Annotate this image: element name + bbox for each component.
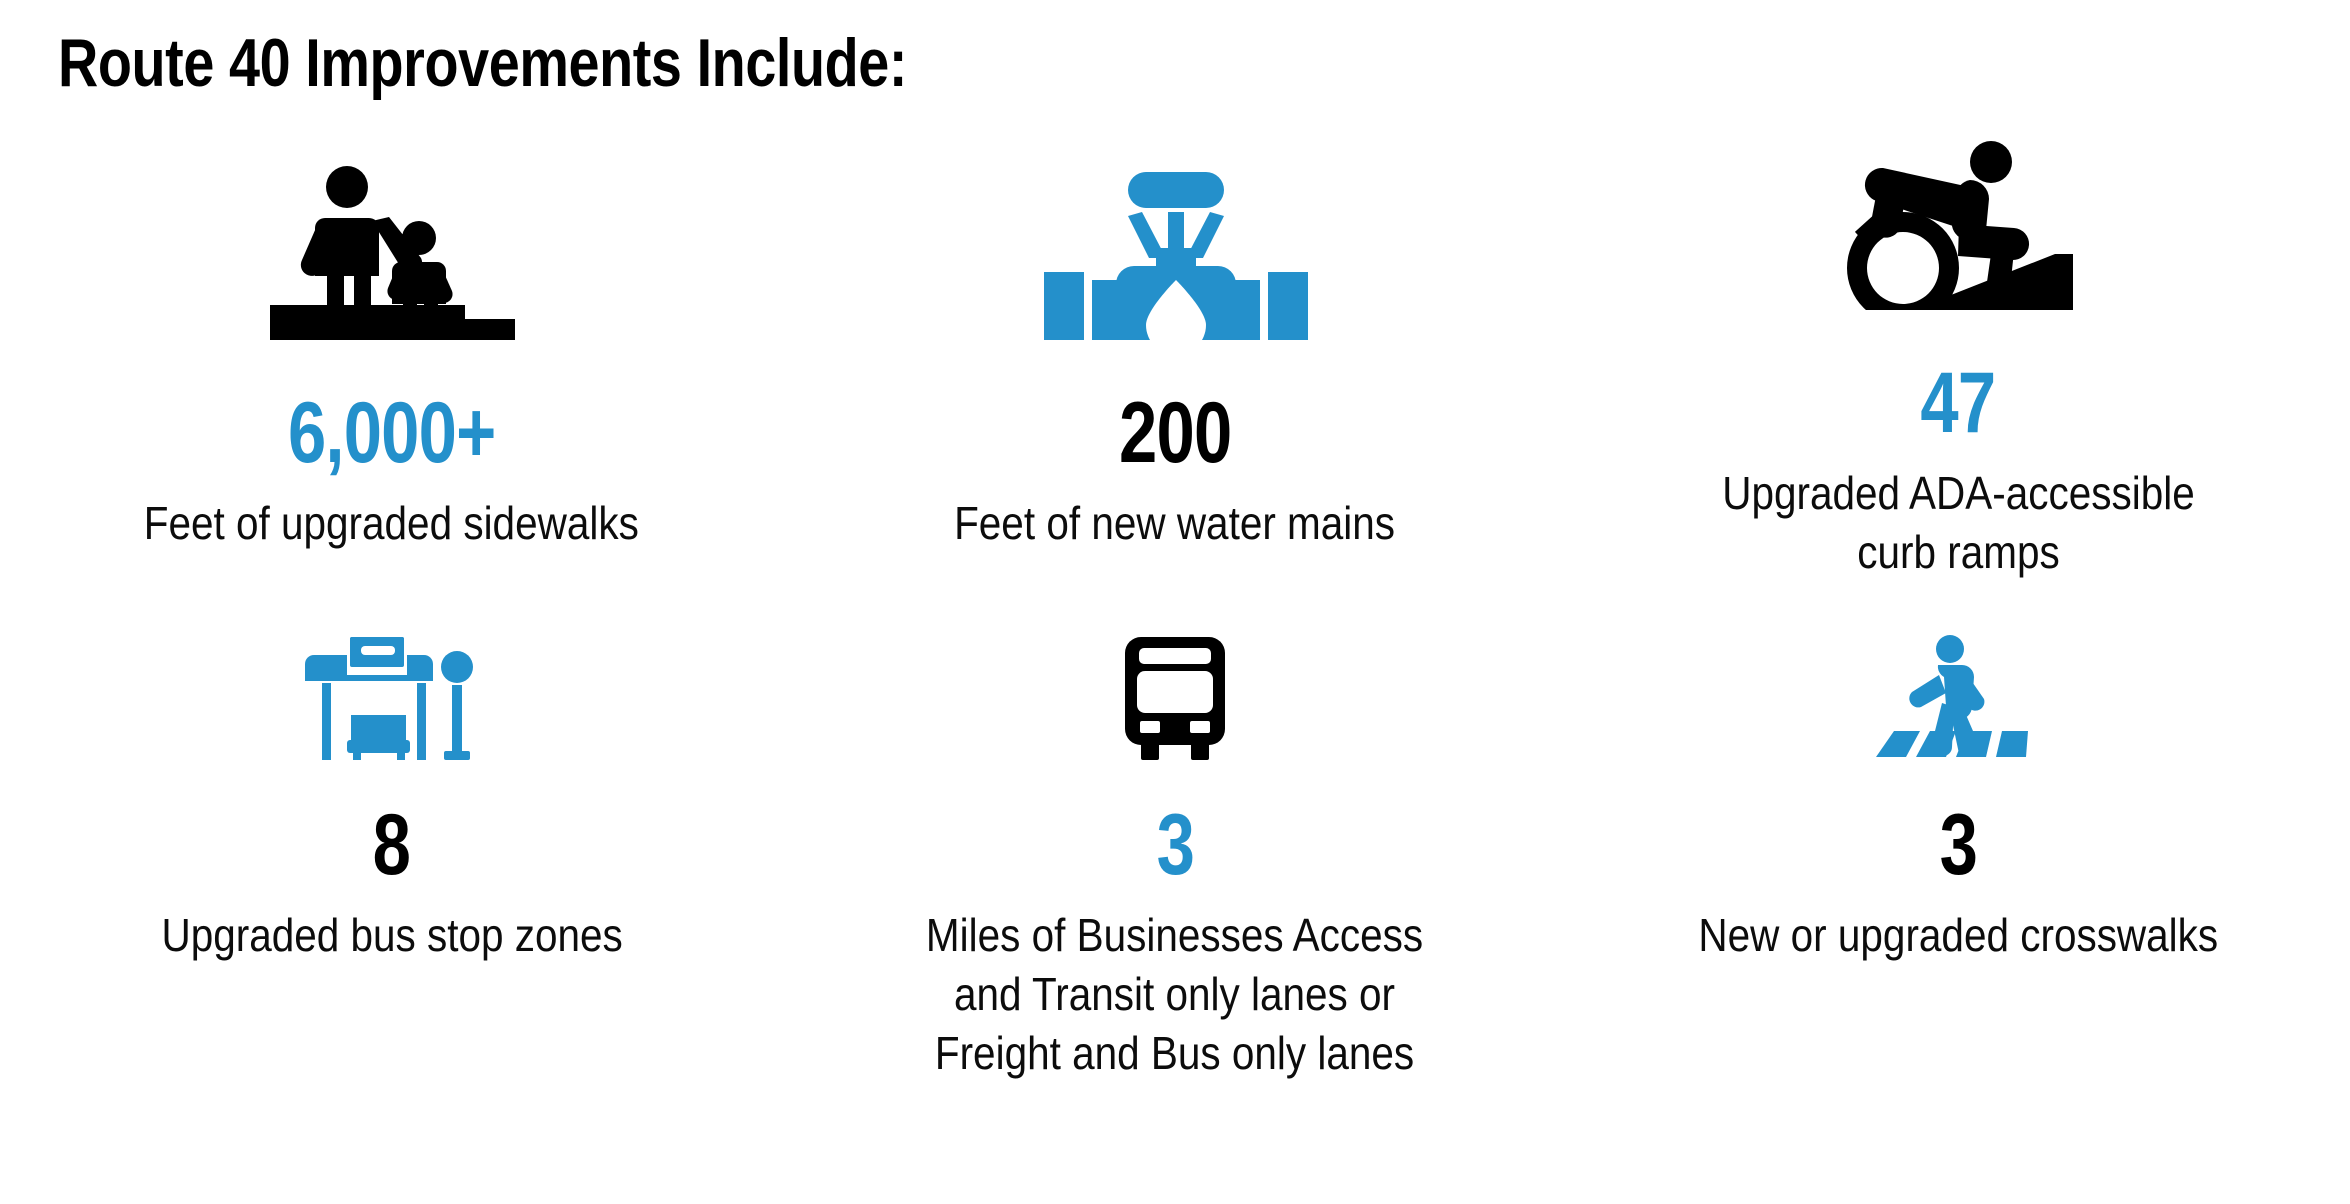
infographic-page: Route 40 Improvements Include:: [0, 0, 2350, 1204]
stat-number: 47: [1921, 360, 1996, 446]
stat-card-water-mains: 200 Feet of new water mains: [783, 140, 1566, 570]
stat-label: Feet of new water mains: [955, 494, 1396, 553]
icon-container: [262, 140, 522, 340]
stat-number: 6,000+: [288, 390, 496, 476]
icon-container: [1841, 140, 2076, 310]
stat-card-bus-stop-zones: 8 Upgraded bus stop zones: [0, 570, 783, 1083]
stat-label: Feet of upgraded sidewalks: [144, 494, 639, 553]
pedestrian-crosswalk-icon: [1872, 635, 2044, 760]
stat-number: 8: [373, 802, 410, 888]
icon-container: [1030, 140, 1320, 340]
stat-number: 3: [1156, 802, 1193, 888]
page-title: Route 40 Improvements Include:: [58, 24, 907, 102]
water-main-valve-icon: [1030, 168, 1320, 340]
stat-label: Miles of Businesses Access and Transit o…: [926, 906, 1423, 1083]
bus-stop-shelter-icon: [304, 635, 479, 760]
stat-label: Upgraded bus stop zones: [161, 906, 622, 965]
stat-card-bat-lanes: 3 Miles of Businesses Access and Transit…: [783, 570, 1566, 1083]
stat-label: Upgraded ADA-accessible curb ramps: [1722, 464, 2195, 582]
wheelchair-ramp-accessibility-icon: [1841, 140, 2076, 310]
icon-container: [304, 570, 479, 760]
adult-and-child-on-sidewalk-icon: [262, 165, 522, 340]
stat-card-curb-ramps: 47 Upgraded ADA-accessible curb ramps: [1567, 140, 2350, 570]
stat-card-crosswalks: 3 New or upgraded crosswalks: [1567, 570, 2350, 1083]
bus-front-icon: [1111, 635, 1239, 760]
stat-label: New or upgraded crosswalks: [1698, 906, 2218, 965]
stat-number: 3: [1940, 802, 1977, 888]
stat-card-sidewalks: 6,000+ Feet of upgraded sidewalks: [0, 140, 783, 570]
stats-grid: 6,000+ Feet of upgraded sidewalks: [0, 140, 2350, 1083]
icon-container: [1111, 570, 1239, 760]
icon-container: [1872, 570, 2044, 760]
stat-number: 200: [1119, 390, 1231, 476]
